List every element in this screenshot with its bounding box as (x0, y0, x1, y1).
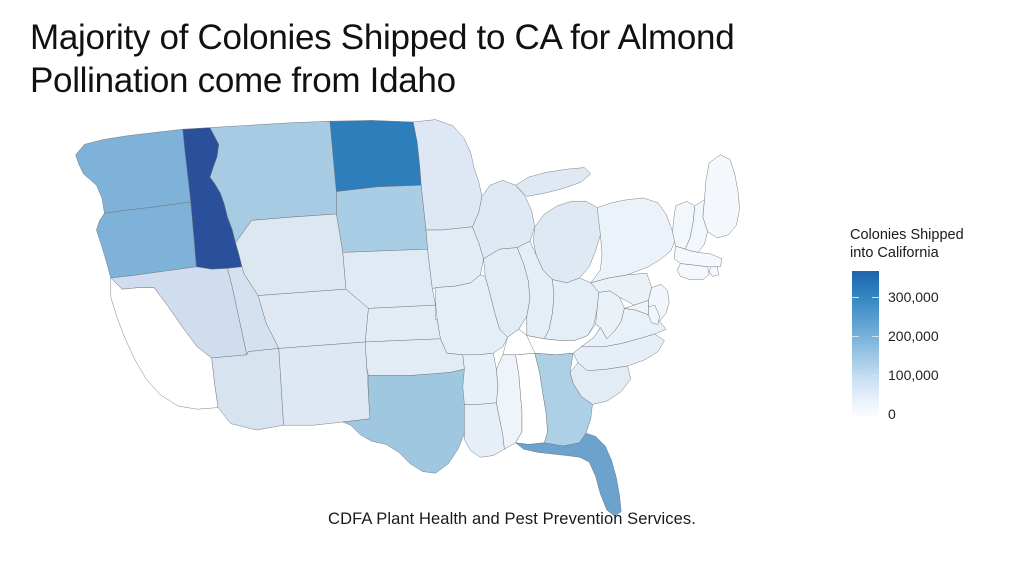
legend-tick-label-100000: 100,000 (888, 367, 939, 383)
legend-tick-label-200000: 200,000 (888, 328, 939, 344)
legend-tick-label-0: 0 (888, 406, 896, 422)
state-WY[interactable] (236, 214, 346, 296)
legend-tick-mark-300000-left (852, 297, 859, 299)
state-KS[interactable] (365, 304, 440, 342)
state-OR[interactable] (96, 202, 196, 278)
state-AZ[interactable] (212, 348, 284, 430)
legend-tick-mark-200000-right (872, 336, 879, 338)
us-states-map (10, 118, 810, 518)
state-ND[interactable] (330, 120, 421, 191)
state-NY[interactable] (591, 198, 676, 283)
slide-canvas: Majority of Colonies Shipped to CA for A… (0, 0, 1024, 577)
legend-title: Colonies Shipped into California (850, 226, 1016, 263)
map-legend: Colonies Shipped into California 300,000… (846, 226, 1016, 421)
legend-tick-mark-300000-right (872, 297, 879, 299)
legend-colorbar-gradient (852, 271, 879, 416)
state-FL[interactable] (516, 433, 622, 516)
legend-colorbar-body: 300,000 200,000 100,000 0 (846, 271, 1016, 421)
legend-tick-mark-100000-left (852, 375, 859, 377)
state-AR[interactable] (463, 353, 498, 404)
legend-tick-label-300000: 300,000 (888, 289, 939, 305)
state-NM[interactable] (279, 342, 370, 425)
state-RI[interactable] (709, 267, 719, 277)
source-caption: CDFA Plant Health and Pest Prevention Se… (0, 510, 1024, 529)
legend-tick-mark-200000-left (852, 336, 859, 338)
state-SD[interactable] (336, 185, 427, 252)
choropleth-map (10, 118, 810, 518)
state-WA[interactable] (76, 129, 191, 213)
page-title: Majority of Colonies Shipped to CA for A… (30, 16, 890, 102)
state-ME[interactable] (703, 155, 740, 238)
legend-tick-mark-100000-right (872, 375, 879, 377)
